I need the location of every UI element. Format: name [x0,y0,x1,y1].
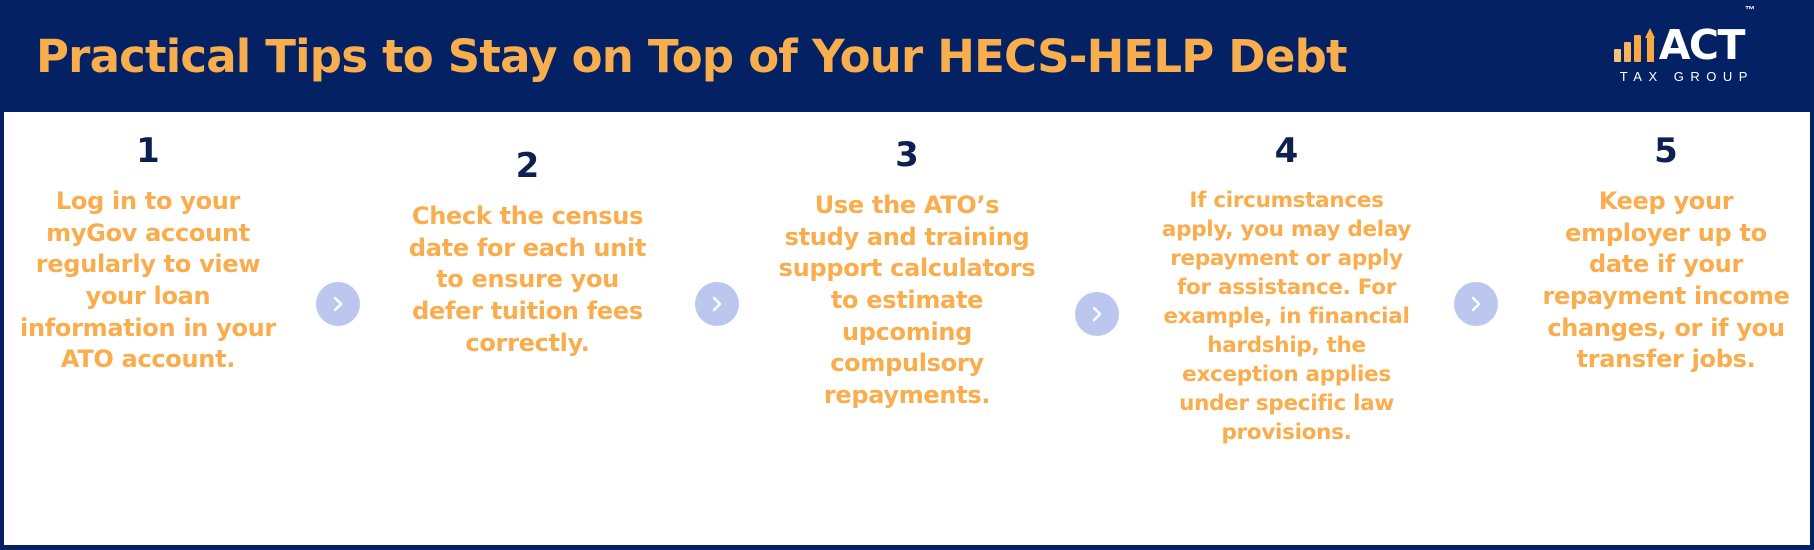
logo-tagline: TAX GROUP [1614,69,1754,84]
logo-wordmark-row: ACT™ [1614,29,1754,63]
step-text-1: Log in to your myGov account regularly t… [14,186,282,376]
up-arrow-stem [1647,36,1654,62]
step-item-5: 5 Keep your employer up to date if your … [1532,134,1800,376]
chevron-right-icon-1 [316,282,360,326]
step-number-5: 5 [1654,134,1678,168]
step-number-2: 2 [516,149,540,183]
infographic-root: Practical Tips to Stay on Top of Your HE… [0,0,1814,550]
act-tax-group-logo: ACT™ TAX GROUP [1614,29,1780,84]
step-text-3: Use the ATO’s study and training support… [773,190,1041,412]
page-title: Practical Tips to Stay on Top of Your HE… [34,34,1347,79]
step-text-5: Keep your employer up to date if your re… [1532,186,1800,376]
step-item-4: 4 If circumstances apply, you may delay … [1153,134,1421,447]
step-text-2: Check the census date for each unit to e… [394,201,662,359]
steps-row: 1 Log in to your myGov account regularly… [4,112,1810,545]
chart-bar-3 [1634,35,1641,62]
chevron-right-icon-2 [695,282,739,326]
step-number-1: 1 [136,134,160,168]
step-text-4: If circumstances apply, you may delay re… [1153,186,1421,447]
bar-chart-growth-icon [1614,29,1656,63]
trademark-icon: ™ [1745,5,1755,16]
step-number-4: 4 [1275,134,1299,168]
chevron-right-icon-3 [1075,292,1119,336]
step-item-3: 3 Use the ATO’s study and training suppo… [773,134,1041,412]
chart-bar-1 [1614,49,1621,62]
header-bar: Practical Tips to Stay on Top of Your HE… [0,0,1814,112]
step-item-1: 1 Log in to your myGov account regularly… [14,134,282,376]
logo-name-text: ACT [1659,21,1744,69]
chevron-right-icon-4 [1454,282,1498,326]
chart-bar-2 [1624,42,1631,62]
up-arrow-icon [1645,28,1656,62]
step-number-3: 3 [895,138,919,172]
step-item-2: 2 Check the census date for each unit to… [394,134,662,359]
logo-name: ACT™ [1659,29,1754,63]
